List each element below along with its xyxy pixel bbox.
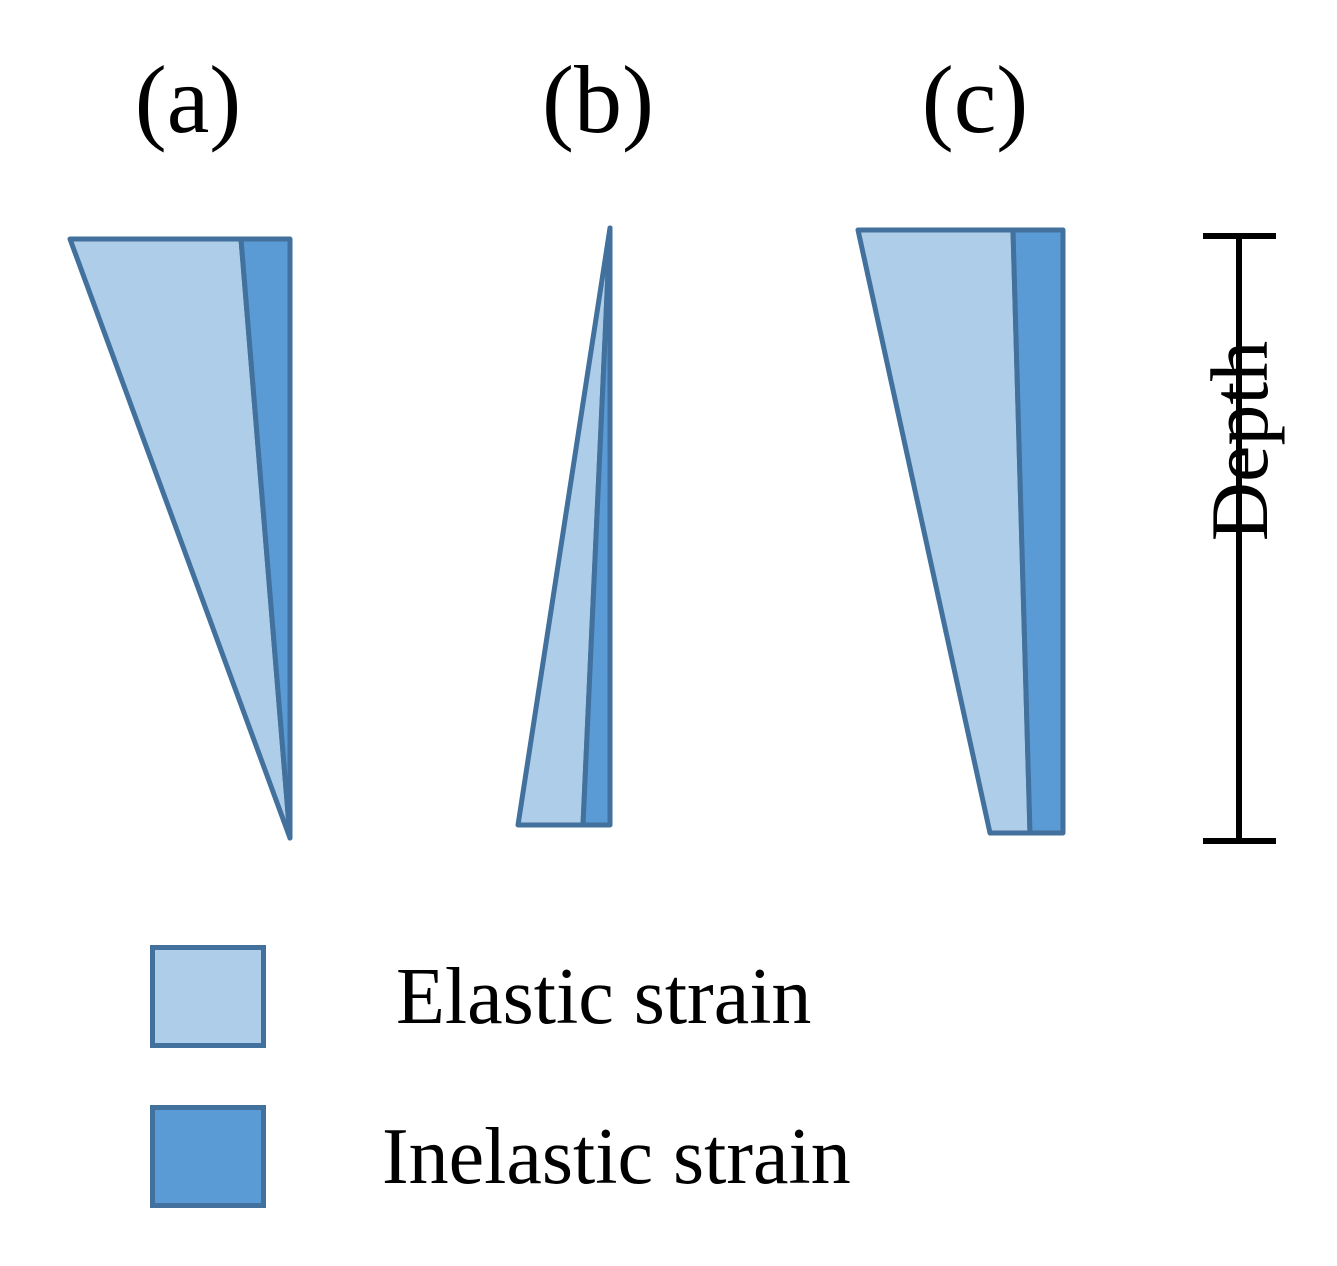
panel-c-shape [858, 230, 1063, 833]
figure-root: (a) (b) (c) Depth [0, 0, 1337, 1266]
panel-c-elastic-region [858, 230, 1030, 833]
legend-label-elastic: Elastic strain [396, 957, 811, 1037]
legend-label-inelastic: Inelastic strain [382, 1117, 851, 1197]
legend-swatch-elastic [150, 945, 266, 1048]
depth-axis-label: Depth [1199, 281, 1281, 601]
panel-a-shape [70, 239, 290, 838]
panel-b-shape [518, 228, 610, 825]
strain-profile-diagram [0, 0, 1337, 1266]
legend-swatch-inelastic [150, 1105, 266, 1208]
legend-item-elastic: Elastic strain [150, 945, 811, 1048]
legend-item-inelastic: Inelastic strain [150, 1105, 851, 1208]
